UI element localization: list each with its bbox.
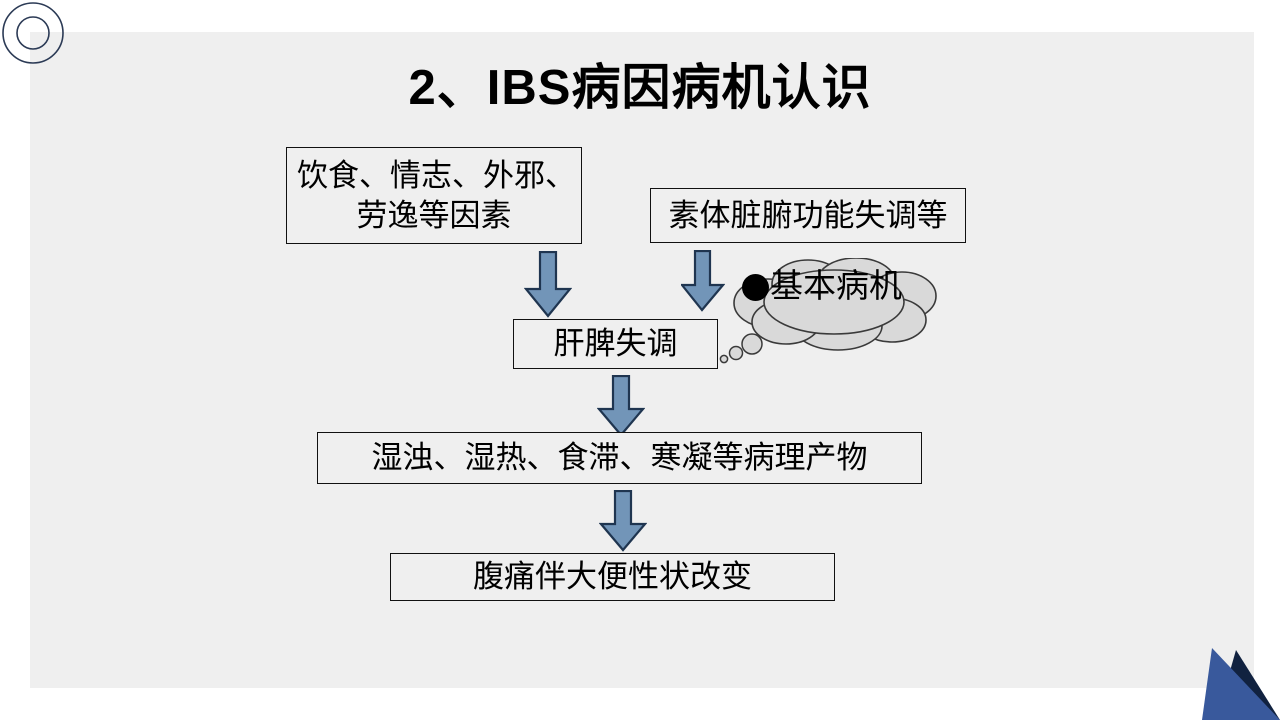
flow-box-causes-line-1: 饮食、情志、外邪、 — [295, 156, 573, 196]
flow-box-liver-spleen[interactable]: 肝脾失调 — [513, 319, 718, 369]
callout-text-wrapper: 基本病机 — [742, 269, 902, 302]
flow-box-symptom-label: 腹痛伴大便性状改变 — [473, 557, 752, 597]
flow-box-causes[interactable]: 饮食、情志、外邪、 劳逸等因素 — [286, 147, 582, 244]
flow-box-constitution-label: 素体脏腑功能失调等 — [669, 196, 948, 236]
page-title: 2、IBS病因病机认识 — [0, 48, 1280, 119]
slide-canvas: 2、IBS病因病机认识 饮食、情志、外邪、 劳逸等因素 素体脏腑功能失调等 — [0, 0, 1280, 720]
flow-box-causes-line-2: 劳逸等因素 — [295, 196, 573, 236]
callout-label: 基本病机 — [770, 267, 902, 304]
flow-box-constitution[interactable]: 素体脏腑功能失调等 — [650, 188, 966, 243]
flow-box-symptom[interactable]: 腹痛伴大便性状改变 — [390, 553, 835, 601]
bullet-icon — [742, 274, 769, 301]
flow-box-liver-spleen-label: 肝脾失调 — [554, 324, 678, 364]
flow-box-pathologic-products[interactable]: 湿浊、湿热、食滞、寒凝等病理产物 — [317, 432, 922, 484]
flow-box-pathologic-products-label: 湿浊、湿热、食滞、寒凝等病理产物 — [372, 438, 868, 478]
